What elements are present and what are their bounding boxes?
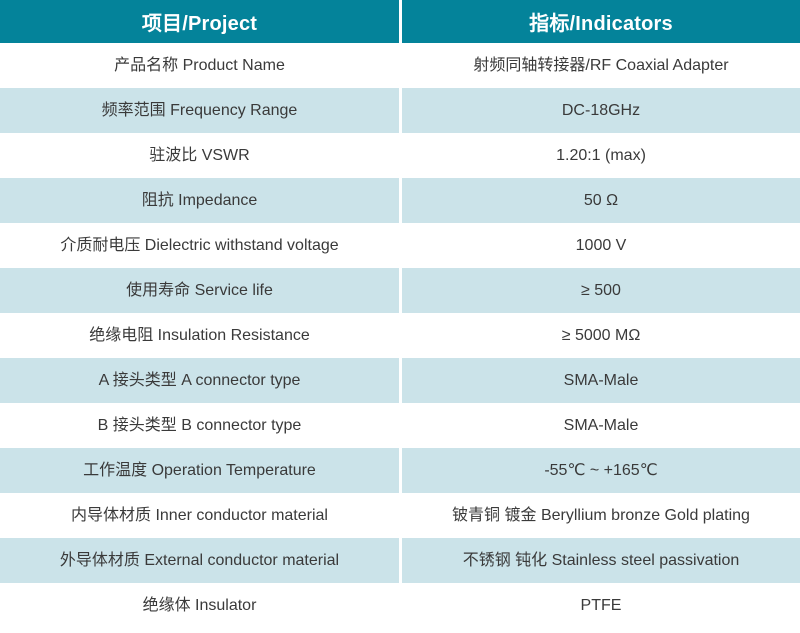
cell-indicator: -55℃ ~ +165℃ [402,448,800,493]
cell-indicator-value: ≥ 5000 MΩ [402,326,800,345]
table-row: 外导体材质 External conductor material不锈钢 钝化 … [0,538,800,583]
table-header: 项目/Project 指标/Indicators [0,0,800,43]
column-header-project-label: 项目/Project [0,7,399,36]
cell-indicator-value: PTFE [402,596,800,615]
cell-project-label: 驻波比 VSWR [0,146,399,165]
cell-project: 阻抗 Impedance [0,178,399,223]
cell-project: 驻波比 VSWR [0,133,399,178]
cell-indicator-value: -55℃ ~ +165℃ [402,461,800,480]
cell-indicator: DC-18GHz [402,88,800,133]
cell-indicator-value: DC-18GHz [402,101,800,120]
cell-project: 外导体材质 External conductor material [0,538,399,583]
cell-indicator: 铍青铜 镀金 Beryllium bronze Gold plating [402,493,800,538]
cell-project-label: 产品名称 Product Name [0,56,399,75]
cell-indicator-value: ≥ 500 [402,281,800,300]
table-row: 介质耐电压 Dielectric withstand voltage1000 V [0,223,800,268]
cell-project-label: 工作温度 Operation Temperature [0,461,399,480]
column-header-project: 项目/Project [0,0,399,43]
table-row: 驻波比 VSWR1.20:1 (max) [0,133,800,178]
cell-indicator: 1.20:1 (max) [402,133,800,178]
cell-project: B 接头类型 B connector type [0,403,399,448]
table-row: B 接头类型 B connector typeSMA-Male [0,403,800,448]
cell-indicator: 射频同轴转接器/RF Coaxial Adapter [402,43,800,88]
table-row: 绝缘电阻 Insulation Resistance≥ 5000 MΩ [0,313,800,358]
cell-project: 频率范围 Frequency Range [0,88,399,133]
cell-project: 绝缘体 Insulator [0,583,399,628]
cell-project: 使用寿命 Service life [0,268,399,313]
table-row: 内导体材质 Inner conductor material铍青铜 镀金 Ber… [0,493,800,538]
cell-indicator: SMA-Male [402,358,800,403]
cell-project-label: 外导体材质 External conductor material [0,551,399,570]
cell-project: 内导体材质 Inner conductor material [0,493,399,538]
table-row: 绝缘体 InsulatorPTFE [0,583,800,628]
cell-indicator: 不锈钢 钝化 Stainless steel passivation [402,538,800,583]
cell-project: 绝缘电阻 Insulation Resistance [0,313,399,358]
column-header-indicators: 指标/Indicators [402,0,800,43]
cell-indicator-value: SMA-Male [402,416,800,435]
cell-indicator: SMA-Male [402,403,800,448]
cell-indicator-value: 射频同轴转接器/RF Coaxial Adapter [402,56,800,75]
cell-project-label: 频率范围 Frequency Range [0,101,399,120]
cell-project-label: 绝缘体 Insulator [0,596,399,615]
cell-indicator-value: SMA-Male [402,371,800,390]
cell-indicator-value: 不锈钢 钝化 Stainless steel passivation [402,551,800,570]
cell-project-label: 介质耐电压 Dielectric withstand voltage [0,236,399,255]
cell-indicator-value: 50 Ω [402,191,800,210]
table-row: 工作温度 Operation Temperature-55℃ ~ +165℃ [0,448,800,493]
cell-project: 工作温度 Operation Temperature [0,448,399,493]
cell-indicator-value: 铍青铜 镀金 Beryllium bronze Gold plating [402,506,800,525]
cell-indicator: 50 Ω [402,178,800,223]
table-header-row: 项目/Project 指标/Indicators [0,0,800,43]
cell-indicator-value: 1000 V [402,236,800,255]
table-body: 产品名称 Product Name射频同轴转接器/RF Coaxial Adap… [0,43,800,628]
cell-indicator: PTFE [402,583,800,628]
cell-project-label: B 接头类型 B connector type [0,416,399,435]
table-row: A 接头类型 A connector typeSMA-Male [0,358,800,403]
cell-project: 产品名称 Product Name [0,43,399,88]
cell-indicator: 1000 V [402,223,800,268]
table-row: 频率范围 Frequency RangeDC-18GHz [0,88,800,133]
table-row: 阻抗 Impedance50 Ω [0,178,800,223]
cell-project: 介质耐电压 Dielectric withstand voltage [0,223,399,268]
cell-project-label: 绝缘电阻 Insulation Resistance [0,326,399,345]
table-row: 使用寿命 Service life≥ 500 [0,268,800,313]
cell-project-label: 阻抗 Impedance [0,191,399,210]
cell-project-label: 使用寿命 Service life [0,281,399,300]
cell-indicator: ≥ 5000 MΩ [402,313,800,358]
cell-project-label: A 接头类型 A connector type [0,371,399,390]
cell-indicator: ≥ 500 [402,268,800,313]
cell-project-label: 内导体材质 Inner conductor material [0,506,399,525]
column-header-indicators-label: 指标/Indicators [402,7,800,36]
cell-project: A 接头类型 A connector type [0,358,399,403]
product-specification-table: 项目/Project 指标/Indicators 产品名称 Product Na… [0,0,800,628]
cell-indicator-value: 1.20:1 (max) [402,146,800,165]
table-row: 产品名称 Product Name射频同轴转接器/RF Coaxial Adap… [0,43,800,88]
